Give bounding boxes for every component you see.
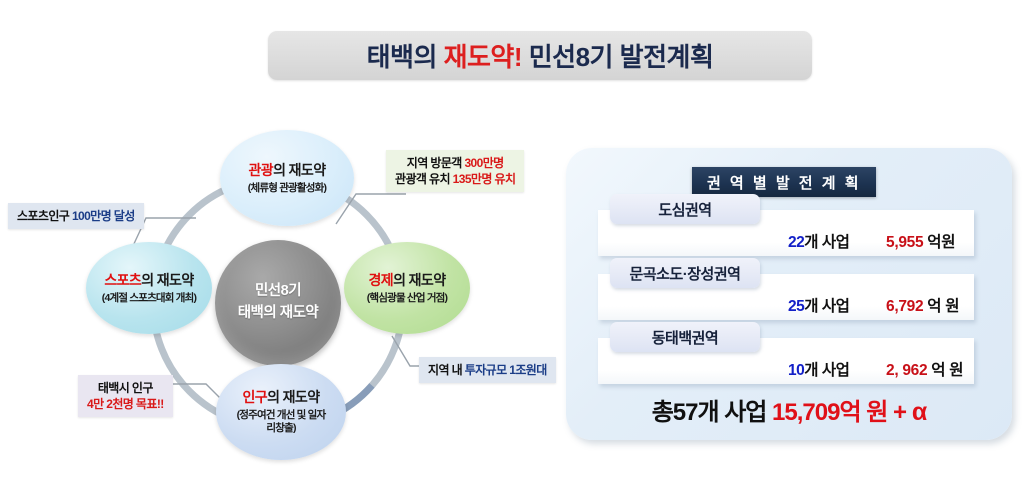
bubble-population[interactable]: 인구의 재도약 (정주여건 개선 및 일자리창출) bbox=[216, 364, 346, 460]
vision-circle-diagram: 민선8기 태백의 재도약 관광의 재도약 (체류형 관광활성화) 스포츠의 재도… bbox=[0, 120, 555, 480]
region-amount-2: 2, 962 억 원 bbox=[886, 358, 963, 380]
callout-tourism-line-1: 지역 방문객 300만명 bbox=[395, 155, 515, 171]
region-count-unit-0: 개 사업 bbox=[804, 234, 849, 251]
table-row[interactable]: 문곡소도·장성권역 25개 사업 6,792 억 원 bbox=[598, 274, 974, 320]
callout-tourism-line1-value: 300만명 bbox=[464, 156, 503, 170]
callout-tourism-line1-label: 지역 방문객 bbox=[407, 156, 465, 170]
center-line-2: 태백의 재도약 bbox=[238, 303, 319, 325]
region-name-2: 동태백권역 bbox=[652, 327, 719, 348]
region-amount-0: 5,955 억원 bbox=[886, 230, 955, 252]
region-total-summary: 총57개 사업 15,709억 원 + α bbox=[566, 392, 1012, 427]
region-chip-2: 동태백권역 bbox=[610, 322, 760, 352]
callout-economy-label: 지역 내 bbox=[428, 363, 465, 377]
callout-tourism-line-2: 관광객 유치 135만명 유치 bbox=[395, 171, 515, 187]
region-count-0: 22개 사업 bbox=[788, 230, 849, 252]
region-chip-0: 도심권역 bbox=[610, 194, 760, 224]
table-row[interactable]: 동태백권역 10개 사업 2, 962 억 원 bbox=[598, 338, 974, 384]
table-row[interactable]: 도심권역 22개 사업 5,955 억원 bbox=[598, 210, 974, 256]
bubble-population-title-rest: 의 재도약 bbox=[267, 389, 319, 405]
bubble-population-subtitle: (정주여건 개선 및 일자리창출) bbox=[233, 409, 329, 435]
page-title: 태백의 재도약! 민선8기 발전계획 bbox=[367, 37, 714, 74]
region-amount-value-1: 6,792 bbox=[886, 298, 923, 315]
center-circle: 민선8기 태백의 재도약 bbox=[215, 240, 341, 366]
callout-sports: 스포츠인구 100만명 달성 bbox=[8, 203, 144, 229]
callout-economy-value: 투자규모 1조원대 bbox=[465, 363, 547, 377]
bubble-economy-title: 경제의 재도약 bbox=[369, 272, 446, 288]
region-total-prefix: 총57개 사업 bbox=[652, 399, 772, 426]
region-amount-unit-2: 억 원 bbox=[927, 362, 963, 379]
page-title-banner: 태백의 재도약! 민선8기 발전계획 bbox=[268, 31, 812, 80]
callout-sports-label: 스포츠인구 bbox=[17, 209, 72, 223]
bubble-sports-subtitle: (4계절 스포츠대회 개최) bbox=[102, 292, 196, 304]
callout-population-line-2: 4만 2천명 목표!! bbox=[87, 396, 164, 412]
bubble-population-keyword: 인구 bbox=[243, 389, 268, 405]
callout-population: 태백시 인구 4만 2천명 목표!! bbox=[78, 375, 173, 417]
region-amount-1: 6,792 억 원 bbox=[886, 294, 959, 316]
callout-economy: 지역 내 투자규모 1조원대 bbox=[419, 357, 556, 383]
bubble-tourism-title-rest: 의 재도약 bbox=[273, 162, 325, 178]
region-amount-value-2: 2, 962 bbox=[886, 362, 927, 379]
region-total-alpha: α bbox=[906, 398, 926, 426]
callout-sports-value: 100만명 달성 bbox=[72, 209, 135, 223]
region-name-1: 문곡소도·장성권역 bbox=[630, 263, 741, 284]
region-count-value-2: 10 bbox=[788, 362, 804, 379]
region-count-2: 10개 사업 bbox=[788, 358, 849, 380]
bubble-tourism-subtitle: (체류형 관광활성화) bbox=[248, 182, 326, 194]
bubble-economy[interactable]: 경제의 재도약 (핵심광물 산업 거점) bbox=[344, 242, 470, 334]
region-chip-1: 문곡소도·장성권역 bbox=[610, 258, 760, 288]
region-count-unit-1: 개 사업 bbox=[804, 298, 849, 315]
region-name-0: 도심권역 bbox=[658, 199, 711, 220]
region-count-unit-2: 개 사업 bbox=[804, 362, 849, 379]
bubble-population-title: 인구의 재도약 bbox=[243, 389, 320, 405]
region-panel-header: 권 역 별 발 전 계 획 bbox=[692, 167, 876, 197]
title-highlight: 재도약! bbox=[444, 42, 522, 72]
region-count-value-0: 22 bbox=[788, 234, 804, 251]
callout-tourism: 지역 방문객 300만명 관광객 유치 135만명 유치 bbox=[386, 150, 524, 192]
region-total-amount: 15,709억 원 + bbox=[772, 399, 906, 426]
callout-sports-line-1: 스포츠인구 100만명 달성 bbox=[17, 208, 135, 224]
bubble-sports[interactable]: 스포츠의 재도약 (4계절 스포츠대회 개최) bbox=[86, 242, 212, 334]
region-count-value-1: 25 bbox=[788, 298, 804, 315]
callout-economy-line-1: 지역 내 투자규모 1조원대 bbox=[428, 362, 547, 378]
bubble-tourism-keyword: 관광 bbox=[249, 162, 274, 178]
bubble-economy-subtitle: (핵심광물 산업 거점) bbox=[367, 292, 448, 304]
bubble-sports-keyword: 스포츠 bbox=[104, 272, 141, 288]
region-amount-unit-0: 억원 bbox=[923, 234, 955, 251]
title-prefix: 태백의 bbox=[367, 42, 444, 72]
region-amount-value-0: 5,955 bbox=[886, 234, 923, 251]
region-amount-unit-1: 억 원 bbox=[923, 298, 959, 315]
bubble-economy-keyword: 경제 bbox=[369, 272, 394, 288]
callout-tourism-line2-value: 135만명 유치 bbox=[453, 172, 516, 186]
bubble-sports-title-rest: 의 재도약 bbox=[141, 272, 193, 288]
title-suffix: 민선8기 발전계획 bbox=[522, 42, 713, 72]
region-plan-panel: 권 역 별 발 전 계 획 도심권역 22개 사업 5,955 억원 문곡소도·… bbox=[566, 148, 1012, 440]
region-panel-header-label: 권 역 별 발 전 계 획 bbox=[707, 172, 861, 193]
bubble-economy-title-rest: 의 재도약 bbox=[393, 272, 445, 288]
bubble-tourism-title: 관광의 재도약 bbox=[249, 162, 326, 178]
callout-population-line-1: 태백시 인구 bbox=[87, 380, 164, 396]
region-count-1: 25개 사업 bbox=[788, 294, 849, 316]
callout-tourism-line2-label: 관광객 유치 bbox=[395, 172, 453, 186]
bubble-sports-title: 스포츠의 재도약 bbox=[104, 272, 193, 288]
bubble-tourism[interactable]: 관광의 재도약 (체류형 관광활성화) bbox=[220, 130, 354, 226]
center-line-1: 민선8기 bbox=[255, 281, 301, 303]
